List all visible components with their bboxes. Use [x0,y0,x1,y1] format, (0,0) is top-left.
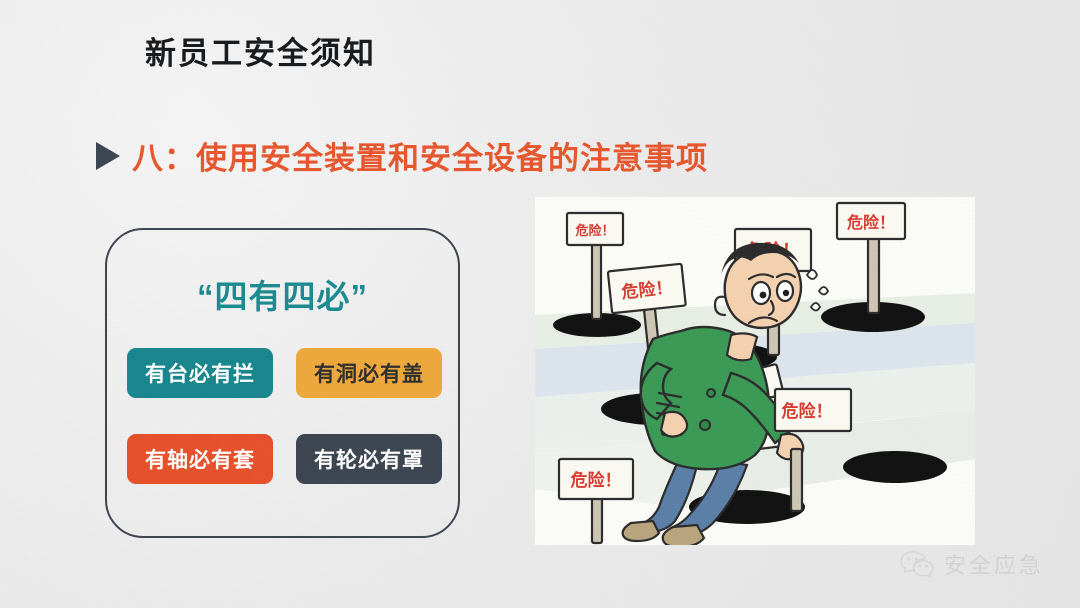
watermark-label: 安全应急 [944,548,1044,580]
danger-sign-2-text: 危险！ [847,213,895,232]
worker-button-1 [700,420,710,430]
section-heading: 八：使用安全装置和安全设备的注意事项 [96,133,708,178]
badge-shaft-sleeve[interactable]: 有轴必有套 [127,434,273,484]
box-heading: “四有四必” [107,270,458,318]
badge-wheel-guard[interactable]: 有轮必有罩 [296,434,442,484]
badge-hole-cover[interactable]: 有洞必有盖 [296,348,442,398]
worker-back-shoe [623,521,659,541]
slide-canvas: 新员工安全须知 八：使用安全装置和安全设备的注意事项 “四有四必” 有台必有拦 … [0,0,1080,608]
worker-neck [727,333,757,360]
section-heading-label: 八：使用安全装置和安全设备的注意事项 [132,133,708,178]
cartoon-svg: .sgn { fill:#fcfbf4; stroke:#2b2b2b; str… [535,197,975,545]
watermark: 安全应急 [900,548,1044,580]
wechat-icon [900,550,934,578]
danger-sign-5-text: 危险！ [570,470,622,491]
badge-grid: 有台必有拦 有洞必有盖 有轴必有套 有轮必有罩 [127,348,442,484]
danger-sign-1-text: 危险！ [575,223,614,239]
worker-button-2 [707,389,715,397]
page-title: 新员工安全须知 [145,28,376,73]
four-musts-box: “四有四必” 有台必有拦 有洞必有盖 有轴必有套 有轮必有罩 [105,228,460,538]
triangle-right-icon [96,142,120,170]
badge-platform-railing[interactable]: 有台必有拦 [127,348,273,398]
worker-hand-back [661,412,687,437]
safety-cartoon-illustration: .sgn { fill:#fcfbf4; stroke:#2b2b2b; str… [535,197,975,545]
sweat-drop-3 [811,303,820,311]
danger-sign-8-text: 危险！ [781,401,833,422]
sweat-drop-2 [819,287,828,295]
hole-5 [843,451,947,483]
